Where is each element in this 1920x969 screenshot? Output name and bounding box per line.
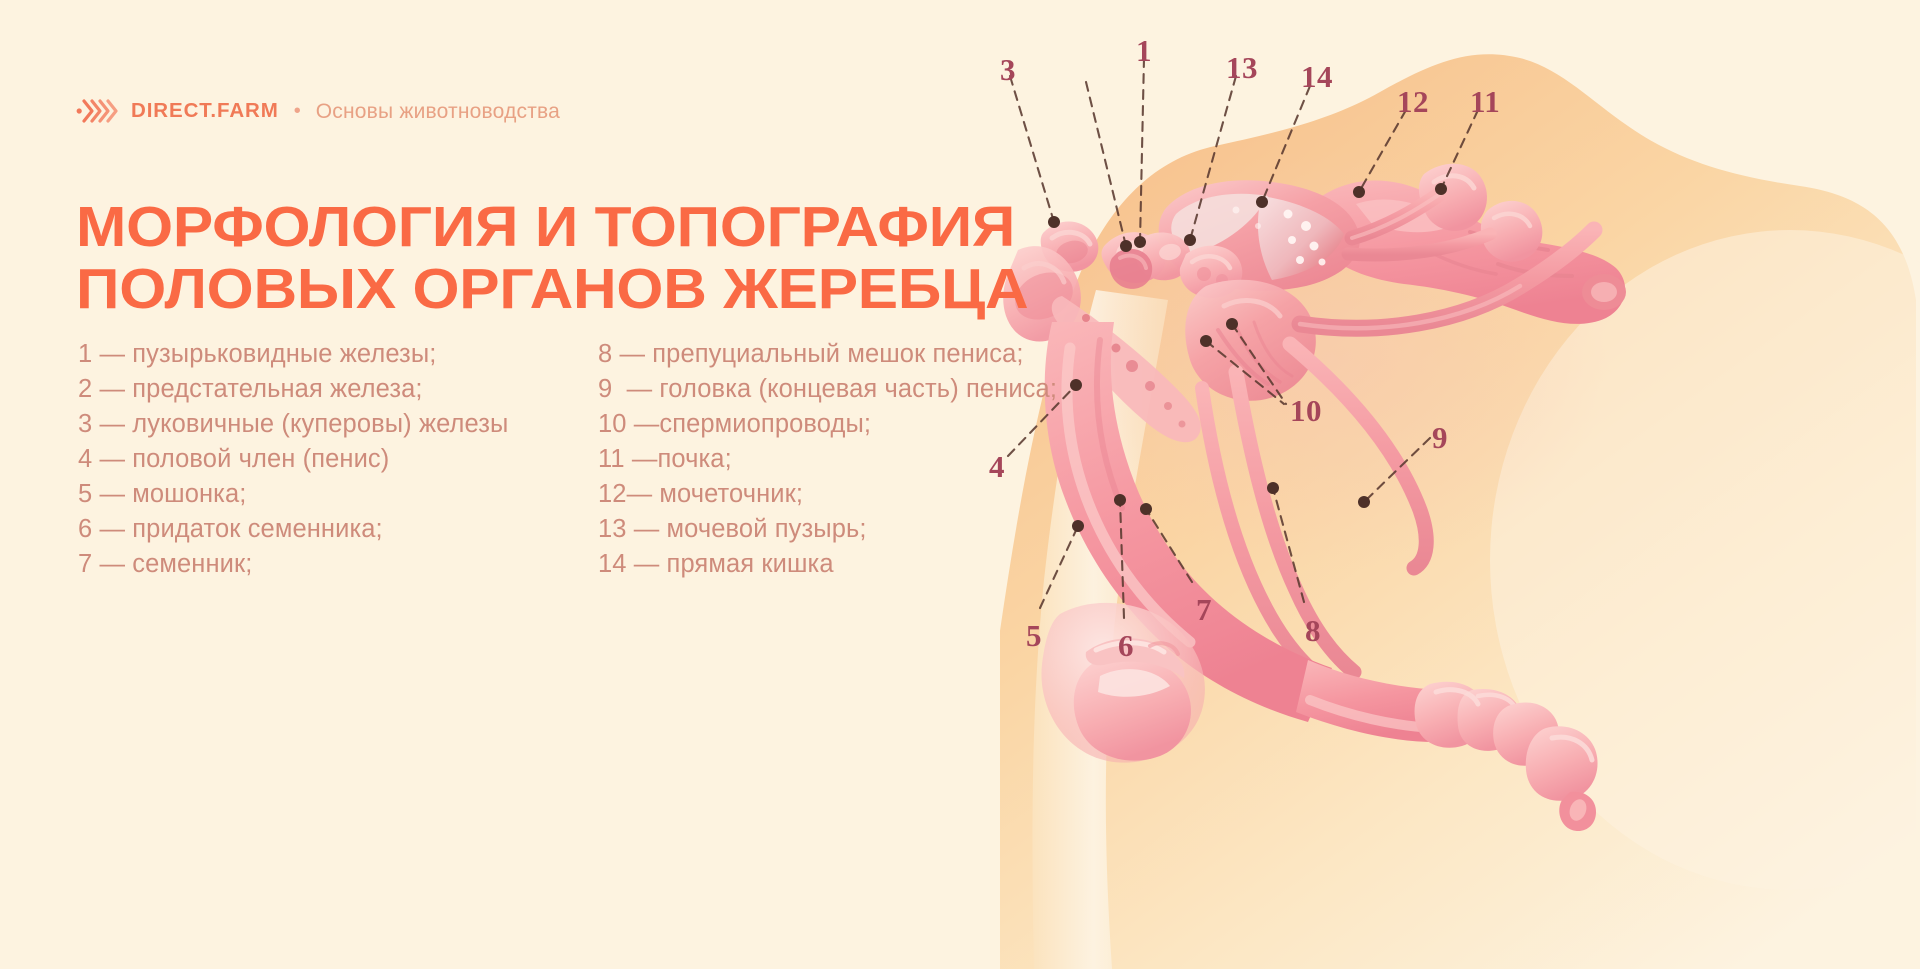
- legend-column-1: 1 — пузырьковидные железы;2 — предстател…: [78, 337, 598, 582]
- legend-item: 3 — луковичные (куперовы) железы: [78, 407, 598, 442]
- callout-number-12: 12: [1397, 86, 1429, 117]
- legend-item: 7 — семенник;: [78, 547, 598, 582]
- legend: 1 — пузырьковидные железы;2 — предстател…: [78, 337, 1118, 582]
- legend-item: 2 — предстательная железа;: [78, 372, 598, 407]
- page-title: МОРФОЛОГИЯ И ТОПОГРАФИЯ ПОЛОВЫХ ОРГАНОВ …: [76, 196, 1136, 320]
- callout-number-11: 11: [1470, 86, 1500, 117]
- brand-separator: •: [294, 101, 301, 121]
- legend-item: 10 —спермиопроводы;: [598, 407, 1118, 442]
- callout-number-3: 3: [1000, 54, 1016, 85]
- anatomy-illustration: 3211314121110945678: [1000, 0, 1920, 969]
- callout-number-6: 6: [1118, 630, 1134, 661]
- infographic-canvas: 3211314121110945678 DIRECT.FARM • Основы…: [0, 0, 1920, 969]
- legend-item: 12— мочеточник;: [598, 477, 1118, 512]
- legend-item: 14 — прямая кишка: [598, 547, 1118, 582]
- legend-item: 11 —почка;: [598, 442, 1118, 477]
- legend-item: 6 — придаток семенника;: [78, 512, 598, 547]
- callout-number-9: 9: [1432, 422, 1448, 453]
- brand-name: DIRECT.FARM: [131, 101, 279, 122]
- callout-number-10: 10: [1290, 395, 1322, 426]
- legend-item: 9 — головка (концевая часть) пениса;: [598, 372, 1118, 407]
- callout-number-1: 1: [1136, 35, 1152, 66]
- chevron-waves-icon: [76, 98, 118, 124]
- callout-number-13: 13: [1226, 52, 1258, 83]
- callout-number-14: 14: [1301, 61, 1333, 92]
- brand-lockup[interactable]: DIRECT.FARM • Основы животноводства: [76, 96, 560, 126]
- legend-item: 4 — половой член (пенис): [78, 442, 598, 477]
- legend-column-2: 8 — препуциальный мешок пениса;9 — голов…: [598, 337, 1118, 582]
- legend-item: 8 — препуциальный мешок пениса;: [598, 337, 1118, 372]
- brand-subtitle: Основы животноводства: [316, 101, 560, 122]
- callout-number-7: 7: [1196, 594, 1212, 625]
- callout-number-8: 8: [1305, 615, 1321, 646]
- callout-number-5: 5: [1026, 620, 1042, 651]
- legend-item: 5 — мошонка;: [78, 477, 598, 512]
- legend-item: 13 — мочевой пузырь;: [598, 512, 1118, 547]
- legend-item: 1 — пузырьковидные железы;: [78, 337, 598, 372]
